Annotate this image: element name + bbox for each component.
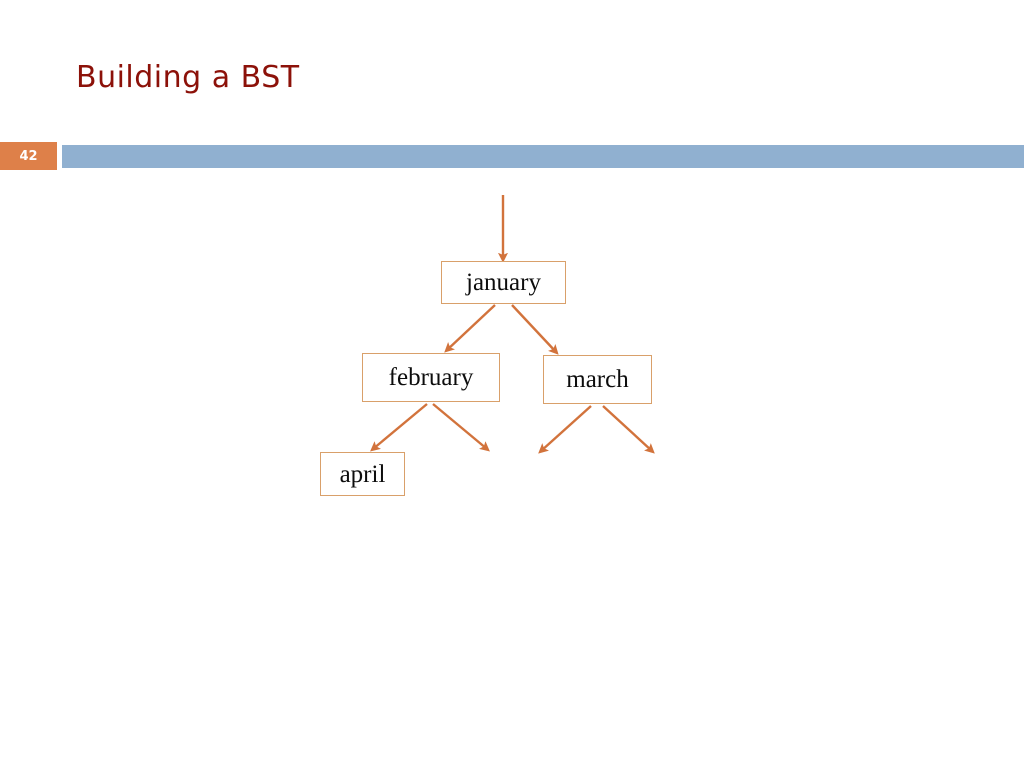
tree-node-label: march	[566, 367, 628, 392]
tree-edge	[447, 305, 495, 350]
slide-canvas: Building a BST 42 january february march…	[0, 0, 1024, 768]
tree-edge	[512, 305, 556, 352]
tree-edge	[433, 404, 487, 449]
tree-node-label: april	[340, 462, 386, 487]
tree-edge	[373, 404, 427, 449]
tree-edge	[603, 406, 652, 451]
tree-node-march[interactable]: march	[543, 355, 652, 404]
tree-node-april[interactable]: april	[320, 452, 405, 496]
bst-diagram: january february march april	[0, 0, 1024, 768]
tree-node-january[interactable]: january	[441, 261, 566, 304]
tree-node-label: february	[389, 365, 474, 390]
tree-edge	[541, 406, 591, 451]
tree-edges	[373, 195, 652, 451]
tree-node-february[interactable]: february	[362, 353, 500, 402]
tree-edges-layer	[0, 0, 1024, 768]
tree-node-label: january	[466, 270, 541, 295]
